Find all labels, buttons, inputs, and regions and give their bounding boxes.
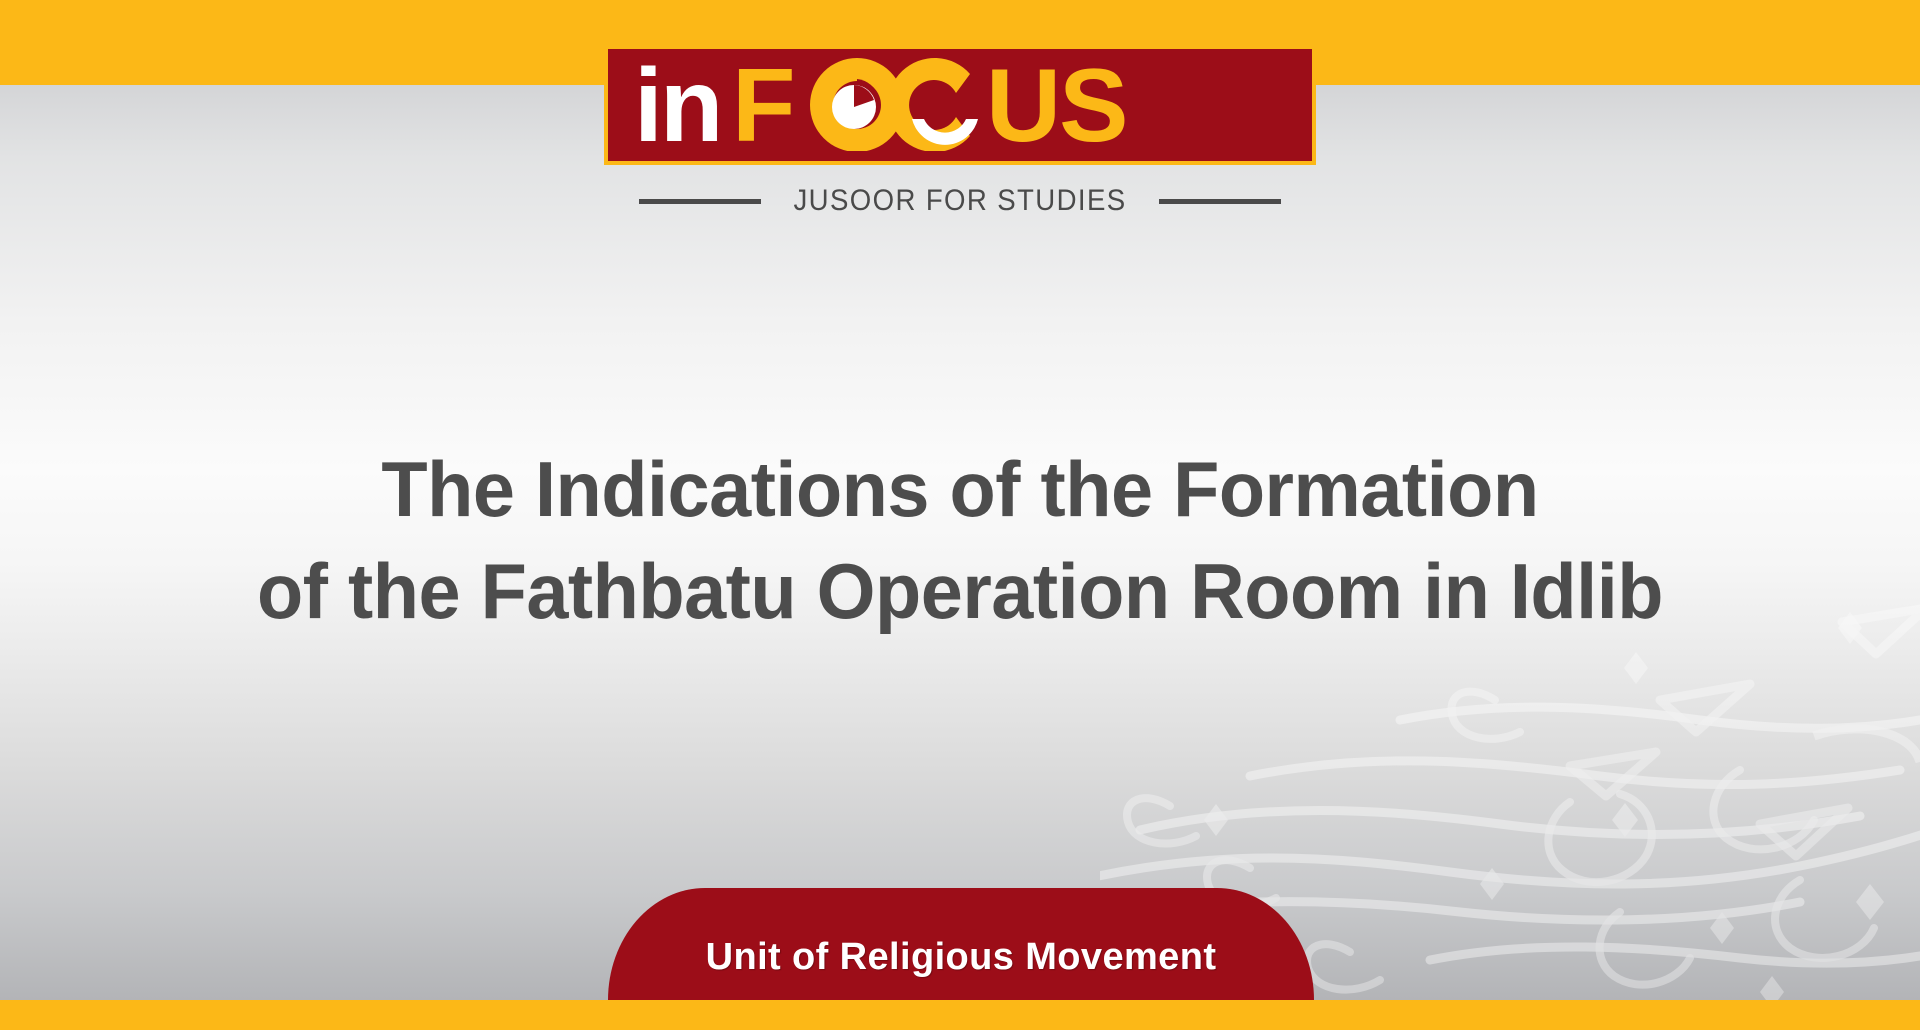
logo-c-letter xyxy=(888,58,978,151)
logo-box: in F xyxy=(604,45,1316,165)
logo-wordmark: in F xyxy=(634,57,1286,151)
svg-text:in: in xyxy=(634,57,720,151)
page-title: The Indications of the Formation of the … xyxy=(0,438,1920,642)
tagline-rule-right xyxy=(1159,199,1281,204)
tagline-rule-left xyxy=(639,199,761,204)
title-line-1: The Indications of the Formation xyxy=(29,438,1891,540)
unit-ribbon: Unit of Religious Movement xyxy=(608,888,1314,1000)
brand-logo: in F xyxy=(0,0,1920,218)
logo-tagline: JUSOOR FOR STUDIES xyxy=(0,184,1920,218)
bottom-accent-bar xyxy=(0,1000,1920,1030)
title-line-2: of the Fathbatu Operation Room in Idlib xyxy=(29,540,1891,642)
svg-text:F: F xyxy=(732,57,794,151)
slide-cover: in F xyxy=(0,0,1920,1030)
unit-ribbon-label: Unit of Religious Movement xyxy=(706,910,1217,979)
tagline-text: JUSOOR FOR STUDIES xyxy=(793,184,1126,218)
svg-text:US: US xyxy=(986,57,1126,151)
